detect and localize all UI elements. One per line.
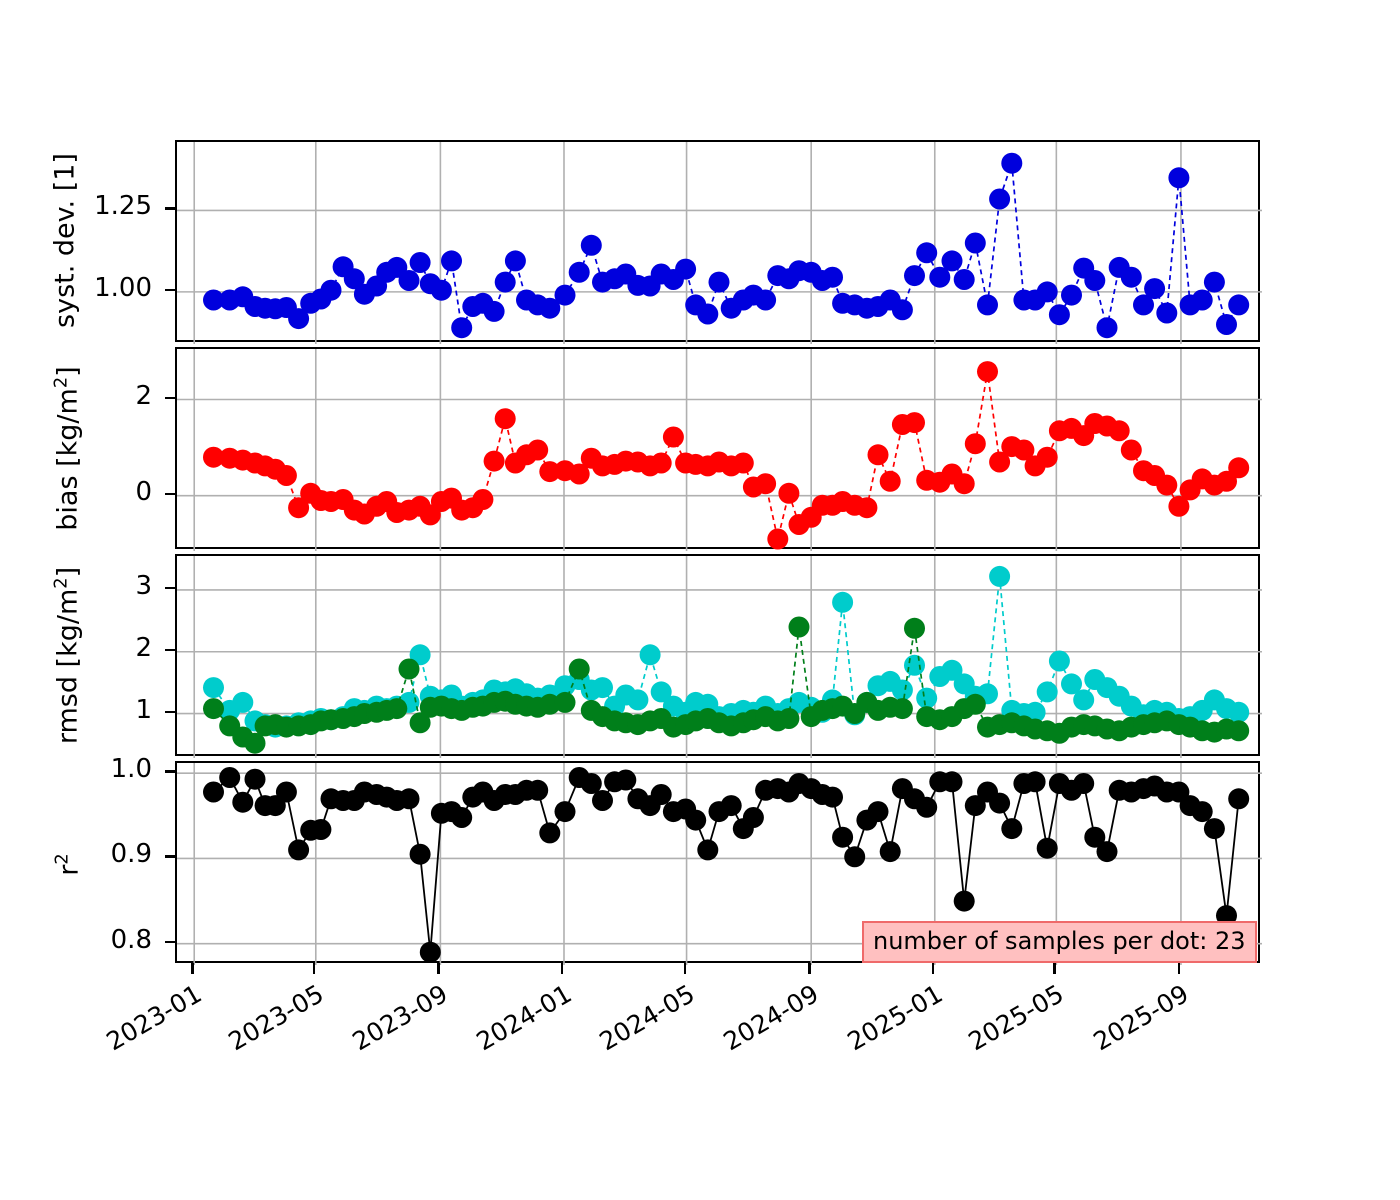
data-point xyxy=(410,844,431,865)
data-point xyxy=(495,408,516,429)
data-point xyxy=(721,795,742,816)
panel-bias xyxy=(175,347,1260,549)
data-point xyxy=(989,566,1010,587)
plot-area-rmsd xyxy=(177,556,1262,758)
ytick-label-rmsd: 2 xyxy=(40,633,152,663)
data-point xyxy=(1109,420,1130,441)
data-point xyxy=(1228,702,1249,723)
data-point xyxy=(942,250,963,271)
ytick-label-bias: 0 xyxy=(40,477,152,507)
data-point xyxy=(399,788,420,809)
data-point xyxy=(484,451,505,472)
data-point xyxy=(1121,267,1142,288)
data-point xyxy=(856,497,877,518)
xtick-mark xyxy=(437,963,439,974)
data-point xyxy=(697,304,718,325)
data-point xyxy=(1073,689,1094,710)
data-point xyxy=(592,790,613,811)
ytick-mark xyxy=(165,587,175,589)
data-point xyxy=(789,617,810,638)
xtick-label: 2025-05 xyxy=(924,979,1068,1079)
data-point xyxy=(386,698,407,719)
data-point xyxy=(1156,475,1177,496)
data-point xyxy=(1216,314,1237,335)
ytick-mark xyxy=(165,855,175,857)
data-point xyxy=(1228,294,1249,315)
data-point xyxy=(276,465,297,486)
ytick-label-syst-dev: 1.00 xyxy=(40,273,152,303)
data-point xyxy=(399,659,420,680)
plot-area-bias xyxy=(177,349,1262,551)
xtick-label: 2023-09 xyxy=(308,979,452,1079)
ytick-label-rmsd: 1 xyxy=(40,695,152,725)
data-point xyxy=(420,942,441,963)
data-point xyxy=(1037,681,1058,702)
data-point xyxy=(892,698,913,719)
data-point xyxy=(288,839,309,860)
data-point xyxy=(954,473,975,494)
data-point xyxy=(245,769,266,790)
figure-root: syst. dev. [1] bias [kg/m2] rmsd [kg/m2]… xyxy=(0,0,1400,1200)
data-point xyxy=(755,290,776,311)
xtick-label: 2024-09 xyxy=(679,979,823,1079)
panel-syst-dev xyxy=(175,140,1260,342)
data-point xyxy=(663,427,684,448)
data-point xyxy=(651,784,672,805)
samples-annotation: number of samples per dot: 23 xyxy=(862,921,1257,963)
data-point xyxy=(1156,303,1177,324)
data-point xyxy=(904,412,925,433)
data-point xyxy=(954,891,975,912)
data-point xyxy=(1061,285,1082,306)
data-point xyxy=(431,280,452,301)
data-point xyxy=(527,780,548,801)
ytick-mark xyxy=(165,493,175,495)
data-point xyxy=(733,453,754,474)
data-point xyxy=(778,483,799,504)
data-point xyxy=(1228,720,1249,741)
data-point xyxy=(232,792,253,813)
data-point xyxy=(1001,818,1022,839)
data-point xyxy=(892,680,913,701)
xtick-mark xyxy=(313,963,315,974)
data-point xyxy=(1204,272,1225,293)
data-point xyxy=(640,644,661,665)
xtick-mark xyxy=(191,963,193,974)
plot-area-syst-dev xyxy=(177,142,1262,344)
xtick-label: 2023-05 xyxy=(184,979,328,1079)
data-point xyxy=(410,252,431,273)
xtick-label: 2025-01 xyxy=(803,979,947,1079)
data-point xyxy=(203,698,224,719)
data-point xyxy=(916,797,937,818)
xtick-mark xyxy=(1053,963,1055,974)
ytick-mark xyxy=(165,289,175,291)
data-point xyxy=(203,677,224,698)
data-point xyxy=(569,262,590,283)
data-point xyxy=(555,692,576,713)
ytick-mark xyxy=(165,649,175,651)
data-point xyxy=(539,822,560,843)
data-point xyxy=(1204,818,1225,839)
data-point xyxy=(904,618,925,639)
data-point xyxy=(942,771,963,792)
ytick-label-rmsd: 3 xyxy=(40,571,152,601)
data-point xyxy=(977,294,998,315)
data-point xyxy=(555,801,576,822)
data-point xyxy=(880,841,901,862)
data-point xyxy=(675,259,696,280)
data-point xyxy=(1168,167,1189,188)
data-point xyxy=(451,807,472,828)
data-point xyxy=(1037,838,1058,859)
xtick-mark xyxy=(684,963,686,974)
data-point xyxy=(451,317,472,338)
data-point xyxy=(868,444,889,465)
data-point xyxy=(1121,440,1142,461)
xtick-mark xyxy=(932,963,934,974)
xtick-label: 2023-01 xyxy=(62,979,206,1079)
xtick-label: 2025-09 xyxy=(1049,979,1193,1079)
data-point xyxy=(472,489,493,510)
data-point xyxy=(1192,290,1213,311)
data-point xyxy=(954,269,975,290)
data-point xyxy=(1084,270,1105,291)
data-point xyxy=(822,787,843,808)
data-point xyxy=(904,265,925,286)
data-point xyxy=(581,235,602,256)
data-point xyxy=(232,692,253,713)
xtick-mark xyxy=(561,963,563,974)
ytick-label-bias: 2 xyxy=(40,381,152,411)
panel-rmsd xyxy=(175,554,1260,756)
data-point xyxy=(495,272,516,293)
ytick-mark xyxy=(165,941,175,943)
ylabel-bias: bias [kg/m2] xyxy=(51,339,84,559)
data-point xyxy=(1097,317,1118,338)
ytick-label-r2: 0.9 xyxy=(40,839,152,869)
data-point xyxy=(310,819,331,840)
data-point xyxy=(399,270,420,291)
data-point xyxy=(1049,651,1070,672)
ytick-label-r2: 1.0 xyxy=(40,754,152,784)
data-point xyxy=(592,677,613,698)
data-point xyxy=(685,810,706,831)
data-point xyxy=(965,433,986,454)
data-point xyxy=(965,694,986,715)
ytick-mark xyxy=(165,711,175,713)
data-point xyxy=(832,592,853,613)
data-point xyxy=(1001,153,1022,174)
data-point xyxy=(569,659,590,680)
data-point xyxy=(1228,457,1249,478)
data-point xyxy=(880,471,901,492)
data-point xyxy=(755,473,776,494)
data-point xyxy=(832,827,853,848)
data-point xyxy=(989,793,1010,814)
data-point xyxy=(1073,773,1094,794)
data-point xyxy=(743,807,764,828)
data-point xyxy=(778,708,799,729)
data-point xyxy=(1192,801,1213,822)
data-point xyxy=(627,689,648,710)
xtick-mark xyxy=(1178,963,1180,974)
data-point xyxy=(203,782,224,803)
data-point xyxy=(651,453,672,474)
data-point xyxy=(904,655,925,676)
ytick-mark xyxy=(165,770,175,772)
data-point xyxy=(219,767,240,788)
data-point xyxy=(1097,841,1118,862)
data-point xyxy=(441,250,462,271)
data-point xyxy=(916,688,937,709)
data-point xyxy=(844,846,865,867)
data-point xyxy=(527,440,548,461)
data-point xyxy=(1025,771,1046,792)
data-point xyxy=(697,839,718,860)
data-point xyxy=(1037,447,1058,468)
data-point xyxy=(321,280,342,301)
data-point xyxy=(916,242,937,263)
ytick-label-r2: 0.8 xyxy=(40,925,152,955)
data-point xyxy=(1037,281,1058,302)
data-point xyxy=(709,272,730,293)
data-point xyxy=(555,285,576,306)
data-point xyxy=(868,801,889,822)
data-point xyxy=(892,299,913,320)
xtick-label: 2024-05 xyxy=(555,979,699,1079)
data-point xyxy=(822,267,843,288)
data-point xyxy=(977,361,998,382)
data-point xyxy=(615,770,636,791)
data-point xyxy=(1144,278,1165,299)
xtick-mark xyxy=(808,963,810,974)
data-point xyxy=(1228,788,1249,809)
ylabel-syst-dev: syst. dev. [1] xyxy=(50,131,81,351)
data-point xyxy=(965,233,986,254)
data-point xyxy=(505,250,526,271)
ytick-mark xyxy=(165,207,175,209)
ytick-mark xyxy=(165,397,175,399)
ytick-label-syst-dev: 1.25 xyxy=(40,191,152,221)
data-point xyxy=(767,529,788,550)
data-point xyxy=(989,189,1010,210)
data-point xyxy=(276,782,297,803)
xtick-label: 2024-01 xyxy=(432,979,576,1079)
data-point xyxy=(484,301,505,322)
data-point xyxy=(1049,304,1070,325)
